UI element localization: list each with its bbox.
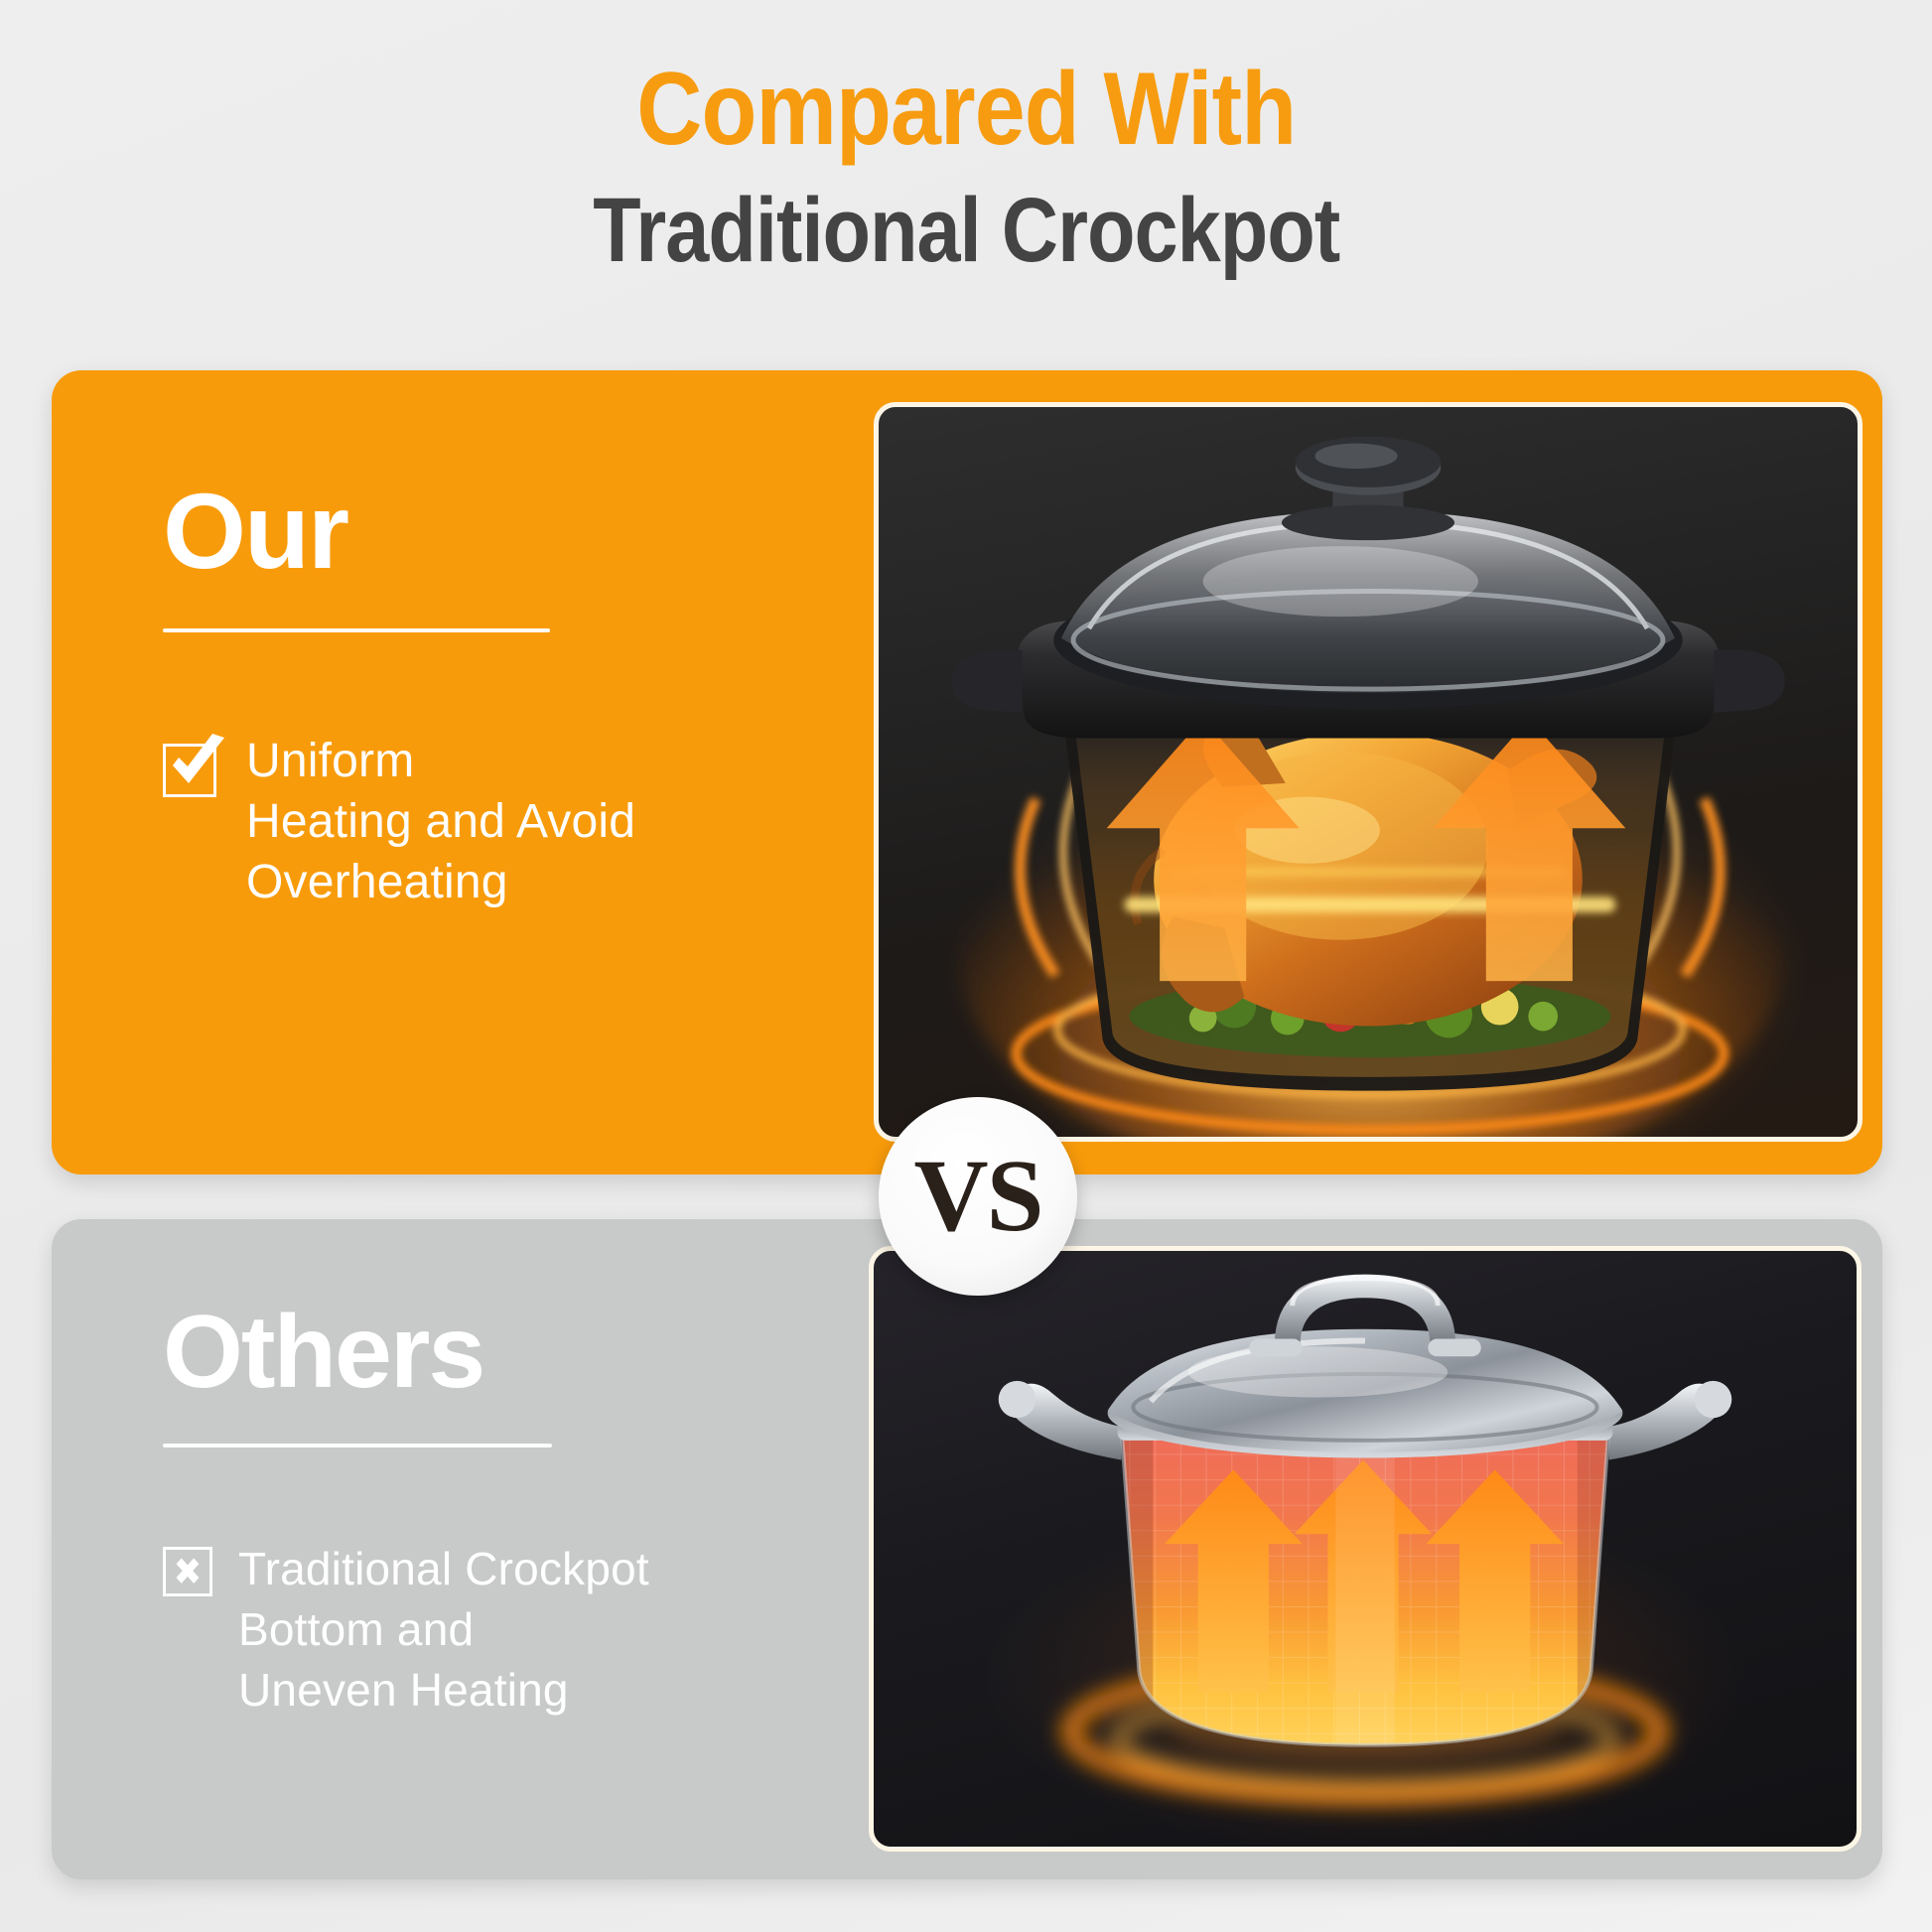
page-title-main: Traditional Crockpot [593,177,1339,285]
panel-our-heading: Our [163,478,866,585]
vs-badge-label: VS [914,1145,1042,1248]
panel-others-bullet-text: Traditional Crockpot Bottom and Uneven H… [238,1539,649,1722]
check-mark-glyph [167,734,228,797]
page-title-accent: Compared With [636,52,1296,167]
page-header: Compared With Traditional Crockpot [0,0,1932,370]
x-mark-glyph: ✖ [174,1553,203,1590]
comparison-panel-our: Our Uniform Heating and Avoid Overheatin… [52,370,1882,1174]
panel-our-divider [163,628,550,632]
panel-our-photo [874,402,1863,1142]
vs-badge: VS [879,1097,1077,1296]
panel-others-bullet: ✖ Traditional Crockpot Bottom and Uneven… [163,1539,866,1722]
panel-our-bullet: Uniform Heating and Avoid Overheating [163,732,866,913]
comparison-panel-others: Others ✖ Traditional Crockpot Bottom and… [52,1219,1882,1879]
checkbox-x-icon: ✖ [163,1547,212,1596]
panel-our-bullet-text: Uniform Heating and Avoid Overheating [246,732,635,913]
panel-others-heading: Others [163,1301,866,1404]
checkbox-check-icon [163,740,220,797]
panel-our-text-column: Our Uniform Heating and Avoid Overheatin… [52,370,866,1174]
panel-others-divider [163,1444,552,1448]
stockpot-illustration [874,1251,1857,1847]
panel-others-text-column: Others ✖ Traditional Crockpot Bottom and… [52,1219,866,1879]
slow-cooker-illustration [879,407,1858,1137]
panel-others-photo [869,1246,1862,1852]
